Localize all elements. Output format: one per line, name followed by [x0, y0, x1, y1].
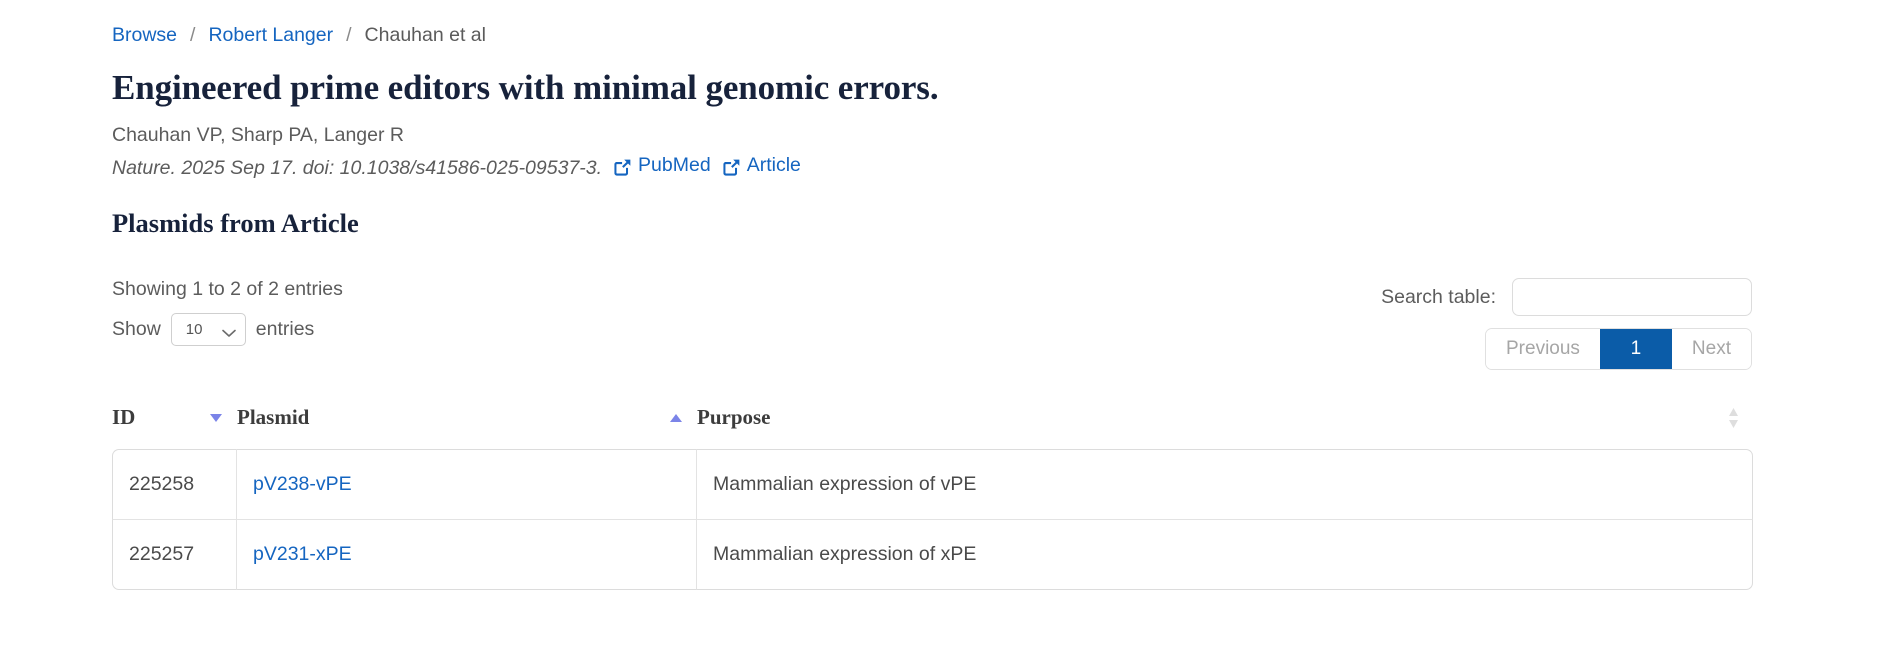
external-link-icon: [723, 159, 740, 176]
cell-purpose: Mammalian expression of vPE: [697, 449, 1753, 519]
table-row[interactable]: 225257 pV231-xPE Mammalian expression of…: [112, 519, 1753, 590]
table-search-control: Search table:: [1381, 278, 1752, 316]
external-link-icon: [614, 159, 631, 176]
breadcrumb-item-current: Chauhan et al: [365, 26, 486, 46]
table-header-row: ID Plasmid: [112, 405, 1753, 449]
cell-id: 225258: [112, 449, 237, 519]
table-row[interactable]: 225258 pV238-vPE Mammalian expression of…: [112, 449, 1753, 519]
article-plasmids-page: Browse / Robert Langer / Chauhan et al E…: [0, 0, 1897, 655]
column-header-purpose-label: Purpose: [697, 405, 771, 430]
table-head: ID Plasmid: [112, 405, 1753, 449]
search-label: Search table:: [1381, 286, 1496, 309]
page-title: Engineered prime editors with minimal ge…: [112, 68, 1897, 107]
citation-text: Nature. 2025 Sep 17. doi: 10.1038/s41586…: [112, 156, 602, 181]
breadcrumb-item-author[interactable]: Robert Langer: [208, 26, 333, 46]
sort-none-icon: [1728, 407, 1739, 429]
page-length-select[interactable]: 10: [171, 313, 246, 346]
table-body: 225258 pV238-vPE Mammalian expression of…: [112, 449, 1753, 590]
cell-plasmid: pV231-xPE: [237, 519, 697, 590]
column-header-purpose[interactable]: Purpose: [697, 405, 1753, 449]
table-controls-right: Search table: Previous 1 Next: [1381, 278, 1752, 370]
pagination-page-1-button[interactable]: 1: [1600, 329, 1672, 369]
article-authors: Chauhan VP, Sharp PA, Langer R: [112, 123, 1897, 148]
sort-ascending-icon: [669, 413, 683, 423]
cell-plasmid: pV238-vPE: [237, 449, 697, 519]
plasmid-link[interactable]: pV238-vPE: [253, 473, 352, 495]
page-length-suffix-label: entries: [256, 318, 315, 341]
cell-id: 225257: [112, 519, 237, 590]
breadcrumb-item-browse[interactable]: Browse: [112, 26, 177, 46]
breadcrumb: Browse / Robert Langer / Chauhan et al: [112, 0, 1897, 46]
table-controls-left: Showing 1 to 2 of 2 entries Show 10 entr…: [112, 278, 343, 345]
cell-purpose: Mammalian expression of xPE: [697, 519, 1753, 590]
pubmed-link-label: PubMed: [638, 153, 711, 178]
breadcrumb-separator: /: [177, 26, 208, 46]
pagination-next-button[interactable]: Next: [1672, 329, 1751, 369]
plasmids-table: ID Plasmid: [112, 405, 1753, 590]
page-length-prefix-label: Show: [112, 318, 161, 341]
page-length-value: 10: [186, 321, 203, 338]
pubmed-link[interactable]: PubMed: [614, 153, 711, 178]
article-link-label: Article: [747, 153, 801, 178]
table-controls: Showing 1 to 2 of 2 entries Show 10 entr…: [112, 278, 1897, 370]
plasmid-link[interactable]: pV231-xPE: [253, 543, 352, 565]
pagination: Previous 1 Next: [1485, 328, 1752, 370]
column-header-id-label: ID: [112, 405, 135, 430]
article-citation: Nature. 2025 Sep 17. doi: 10.1038/s41586…: [112, 153, 1897, 182]
column-header-id[interactable]: ID: [112, 405, 237, 449]
pagination-previous-button[interactable]: Previous: [1486, 329, 1600, 369]
plasmids-table-container: ID Plasmid: [112, 405, 1753, 590]
breadcrumb-separator: /: [333, 26, 364, 46]
column-header-plasmid-label: Plasmid: [237, 405, 309, 430]
search-input[interactable]: [1512, 278, 1752, 316]
column-header-plasmid[interactable]: Plasmid: [237, 405, 697, 449]
page-length-control: Show 10 entries: [112, 313, 343, 346]
table-info: Showing 1 to 2 of 2 entries: [112, 278, 343, 301]
sort-descending-icon: [209, 413, 223, 423]
chevron-down-icon: [222, 325, 236, 334]
article-link[interactable]: Article: [723, 153, 801, 178]
section-heading: Plasmids from Article: [112, 209, 1897, 238]
